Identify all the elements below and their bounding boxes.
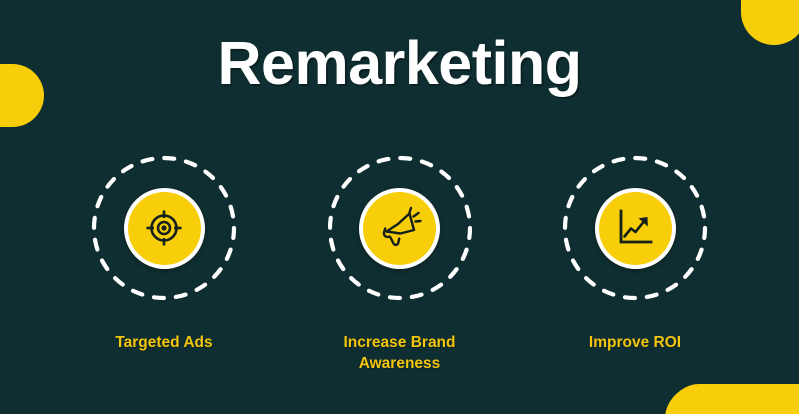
icon-disc <box>128 192 201 265</box>
dashed-ring-increase-brand-awareness <box>324 152 476 304</box>
dashed-ring-targeted-ads <box>88 152 240 304</box>
icon-badge-increase-brand-awareness <box>359 188 440 269</box>
card-targeted-ads[interactable]: Targeted Ads <box>60 152 268 354</box>
dashed-ring-improve-roi <box>559 152 711 304</box>
feature-card-row: Targeted Ads <box>60 152 739 375</box>
icon-disc <box>363 192 436 265</box>
card-caption: Improve ROI <box>589 333 681 354</box>
bottom-right-tab-decoration <box>658 384 799 414</box>
icon-badge-improve-roi <box>595 188 676 269</box>
icon-disc <box>599 192 672 265</box>
megaphone-icon <box>378 206 422 250</box>
remarketing-slide: Remarketing <box>0 0 799 414</box>
card-improve-roi[interactable]: Improve ROI <box>531 152 739 354</box>
icon-badge-targeted-ads <box>124 188 205 269</box>
page-title: Remarketing <box>0 33 799 94</box>
growth-chart-icon <box>614 207 656 249</box>
card-caption: Targeted Ads <box>115 333 212 354</box>
card-increase-brand-awareness[interactable]: Increase Brand Awareness <box>296 152 504 375</box>
target-crosshair-icon <box>143 207 185 249</box>
card-caption: Increase Brand Awareness <box>344 333 456 375</box>
